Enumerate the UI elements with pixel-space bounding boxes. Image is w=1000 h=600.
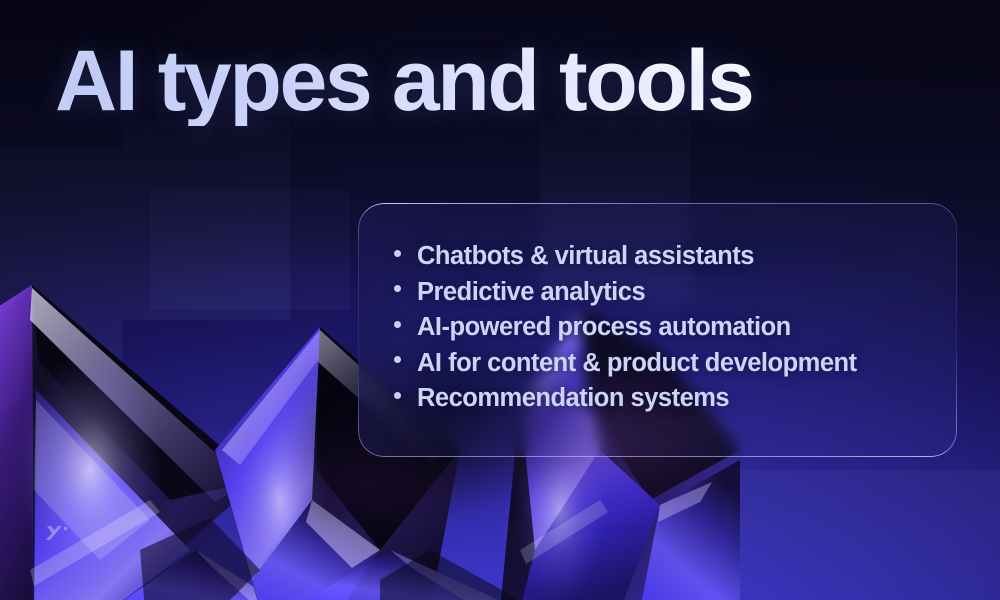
list-item: AI for content & product development	[394, 346, 857, 382]
list-item: AI-powered process automation	[394, 310, 857, 346]
list-item: Chatbots & virtual assistants	[394, 239, 857, 275]
list-item: Recommendation systems	[394, 381, 857, 417]
bullet-icon	[394, 285, 401, 292]
list-item-label: Chatbots & virtual assistants	[417, 239, 754, 275]
page-title: AI types and tools	[55, 36, 752, 126]
slide-canvas: AI types and tools Chatbots & virtual as…	[0, 0, 1000, 600]
list-item-label: AI for content & product development	[417, 346, 857, 382]
glass-card: Chatbots & virtual assistants Predictive…	[358, 203, 957, 457]
list-item-label: Predictive analytics	[417, 275, 645, 311]
list-item-label: Recommendation systems	[417, 381, 729, 417]
list-item-label: AI-powered process automation	[417, 310, 791, 346]
x-mark-icon	[42, 518, 72, 548]
bullet-icon	[394, 356, 401, 363]
bullet-icon	[394, 392, 401, 399]
bullet-icon	[394, 250, 401, 257]
ai-types-list: Chatbots & virtual assistants Predictive…	[394, 239, 857, 417]
list-item: Predictive analytics	[394, 275, 857, 311]
bullet-icon	[394, 321, 401, 328]
